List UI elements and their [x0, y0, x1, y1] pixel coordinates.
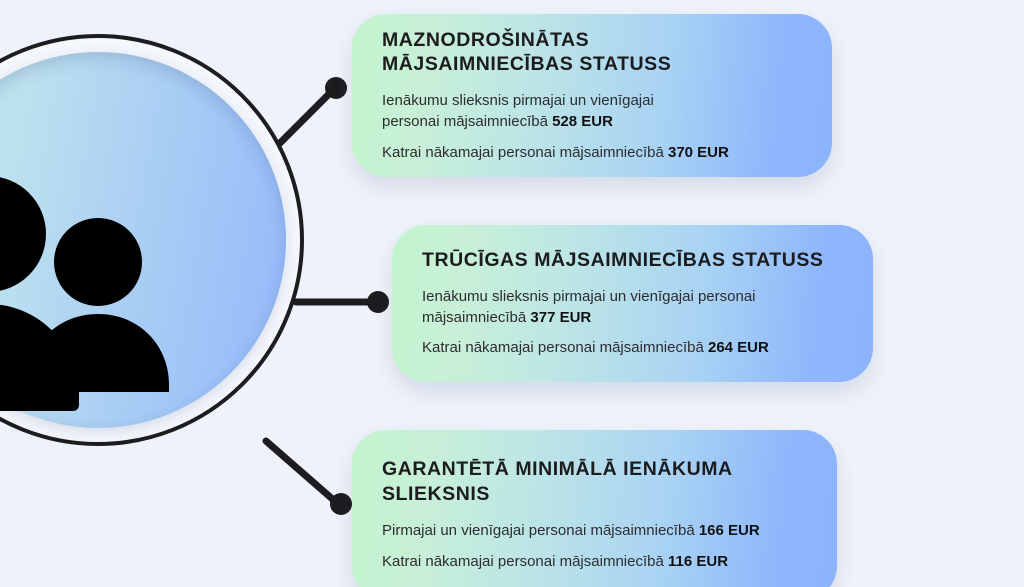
card-line-text: Katrai nākamajai personai mājsaimniecībā [382, 553, 668, 570]
card-line: Katrai nākamajai personai mājsaimniecībā… [382, 552, 807, 573]
card-line: Ienākumu slieksnis pirmajai un vienīgaja… [422, 287, 843, 328]
card-line: Katrai nākamajai personai mājsaimniecībā… [422, 338, 843, 359]
card-line-amount: 377 EUR [530, 309, 591, 326]
card-line-amount: 370 EUR [668, 144, 729, 161]
card-title: GARANTĒTĀ MINIMĀLĀ IENĀKUMA SLIEKSNIS [382, 457, 807, 507]
card-line-text: Ienākumu slieksnis pirmajai un vienīgaja… [382, 92, 654, 130]
card-title: TRŪCĪGAS MĀJSAIMNIECĪBAS STATUSS [422, 248, 843, 273]
card-title: MAZNODROŠINĀTAS MĀJSAIMNIECĪBAS STATUSS [382, 28, 802, 78]
info-card-gmi: GARANTĒTĀ MINIMĀLĀ IENĀKUMA SLIEKSNIS Pi… [352, 430, 837, 587]
card-line-amount: 166 EUR [699, 522, 760, 539]
card-line-text: Katrai nākamajai personai mājsaimniecībā [422, 339, 708, 356]
card-line-text: Pirmajai un vienīgajai personai mājsaimn… [382, 522, 699, 539]
info-card-trucigas: TRŪCĪGAS MĀJSAIMNIECĪBAS STATUSS Ienākum… [392, 225, 873, 382]
card-line-amount: 264 EUR [708, 339, 769, 356]
card-line: Katrai nākamajai personai mājsaimniecībā… [382, 143, 802, 164]
card-line: Pirmajai un vienīgajai personai mājsaimn… [382, 521, 807, 542]
two-people-icon [0, 176, 176, 416]
card-line-amount: 116 EUR [668, 553, 728, 570]
people-circle [0, 34, 304, 446]
card-line: Ienākumu slieksnis pirmajai un vienīgaja… [382, 91, 802, 132]
infographic-root: MAZNODROŠINĀTAS MĀJSAIMNIECĪBAS STATUSS … [0, 0, 1024, 587]
info-card-maznodrosinatas: MAZNODROŠINĀTAS MĀJSAIMNIECĪBAS STATUSS … [352, 14, 832, 177]
card-line-amount: 528 EUR [552, 113, 613, 130]
card-line-text: Katrai nākamajai personai mājsaimniecībā [382, 144, 668, 161]
